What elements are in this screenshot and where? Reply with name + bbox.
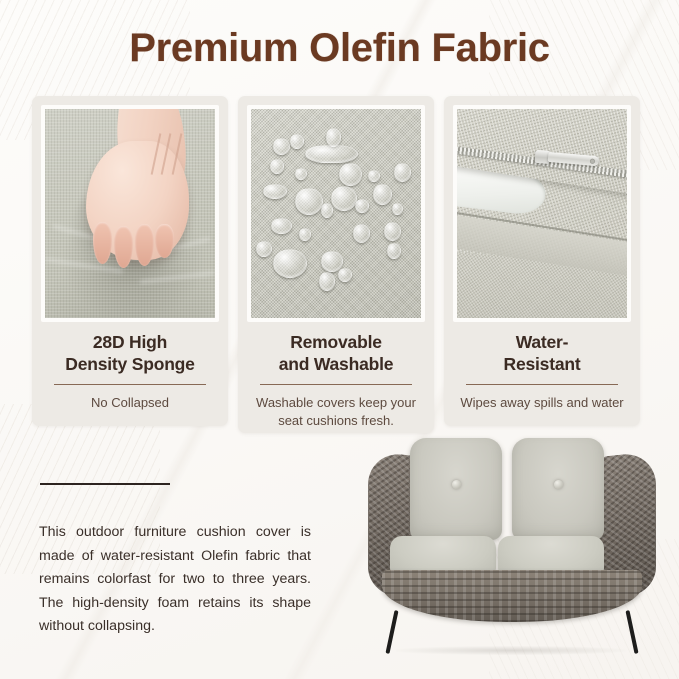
description-divider [40, 483, 170, 485]
water-droplet [392, 203, 403, 215]
sofa-back-cushion-right [512, 438, 604, 540]
feature-card-subtitle-sponge: No Collapsed [44, 394, 216, 412]
water-droplet [368, 170, 380, 182]
water-droplet [353, 224, 370, 243]
water-droplet [271, 218, 292, 235]
feature-card-washable: Removable and Washable Washable covers k… [238, 96, 434, 433]
water-droplet [295, 188, 323, 215]
feature-card-subtitle-washable: Washable covers keep your seat cushions … [250, 394, 422, 431]
feature-card-water-resistant: Water- Resistant Wipes away spills and w… [444, 96, 640, 426]
knuckle [114, 226, 133, 268]
feature-card-title-sponge: 28D High Density Sponge [44, 331, 216, 376]
feature-card-sponge: 28D High Density Sponge No Collapsed [32, 96, 228, 426]
knuckle [93, 222, 112, 264]
feature-card-title-washable: Removable and Washable [250, 331, 422, 376]
feature-card-subtitle-water-resistant: Wipes away spills and water [456, 394, 628, 412]
water-droplet [256, 241, 272, 258]
infographic-canvas: Premium Olefin Fabric [0, 0, 679, 679]
water-droplet [394, 163, 411, 182]
water-droplet [270, 159, 284, 174]
feature-card-title-water-resistant: Water- Resistant [456, 331, 628, 376]
feature-card-divider [260, 384, 412, 385]
feature-card-title-line1: Removable [290, 332, 382, 352]
feature-card-title-line2: Density Sponge [65, 354, 194, 374]
water-droplet [338, 268, 352, 283]
water-droplet [273, 249, 307, 278]
feature-photo-frame-water-resistant [453, 105, 631, 322]
water-droplet [387, 243, 401, 260]
water-droplet [295, 168, 307, 180]
water-droplets-on-fabric-photo [251, 109, 421, 318]
feature-photo-frame-sponge [41, 105, 219, 322]
cushion-tuft-button [554, 480, 563, 489]
feature-card-title-line2: and Washable [279, 354, 394, 374]
wicker-loveseat-with-grey-cushions-photo [366, 432, 658, 658]
water-droplet [373, 184, 392, 205]
feature-photo-frame-washable [247, 105, 425, 322]
water-droplet [319, 272, 335, 291]
water-droplet [273, 138, 290, 155]
feature-card-divider [54, 384, 206, 385]
feature-card-body-sponge: 28D High Density Sponge No Collapsed [32, 322, 228, 412]
water-droplet [326, 128, 342, 147]
feature-card-title-line1: Water- [516, 332, 569, 352]
cushion-tuft-button [452, 480, 461, 489]
knuckle [155, 224, 174, 259]
sofa-ground-shadow [396, 646, 626, 655]
water-droplet [305, 145, 358, 164]
fist-pressing-cushion-photo [45, 109, 215, 318]
water-droplet [321, 203, 333, 218]
water-droplet [263, 184, 287, 199]
feature-card-title-line2: Resistant [504, 354, 581, 374]
zipper-tab-hole [590, 158, 595, 163]
water-droplet [331, 186, 357, 211]
sofa-leg-right [625, 610, 638, 654]
zipper-on-cushion-cover-photo [457, 109, 627, 318]
feature-card-body-water-resistant: Water- Resistant Wipes away spills and w… [444, 322, 640, 412]
feature-card-divider [466, 384, 618, 385]
water-droplet [384, 222, 401, 241]
water-droplet [299, 228, 311, 240]
page-title: Premium Olefin Fabric [0, 26, 679, 71]
water-droplet [290, 134, 304, 149]
sofa-wicker-base [382, 570, 642, 622]
feature-card-body-washable: Removable and Washable Washable covers k… [238, 322, 434, 431]
feature-card-title-line1: 28D High [93, 332, 167, 352]
sofa-back-cushion-left [410, 438, 502, 540]
zipper-tab [548, 152, 600, 166]
hand-illustration [86, 109, 198, 268]
water-droplet [355, 199, 369, 214]
description-paragraph: This outdoor furniture cushion cover is … [39, 521, 311, 639]
water-droplet [339, 163, 361, 186]
